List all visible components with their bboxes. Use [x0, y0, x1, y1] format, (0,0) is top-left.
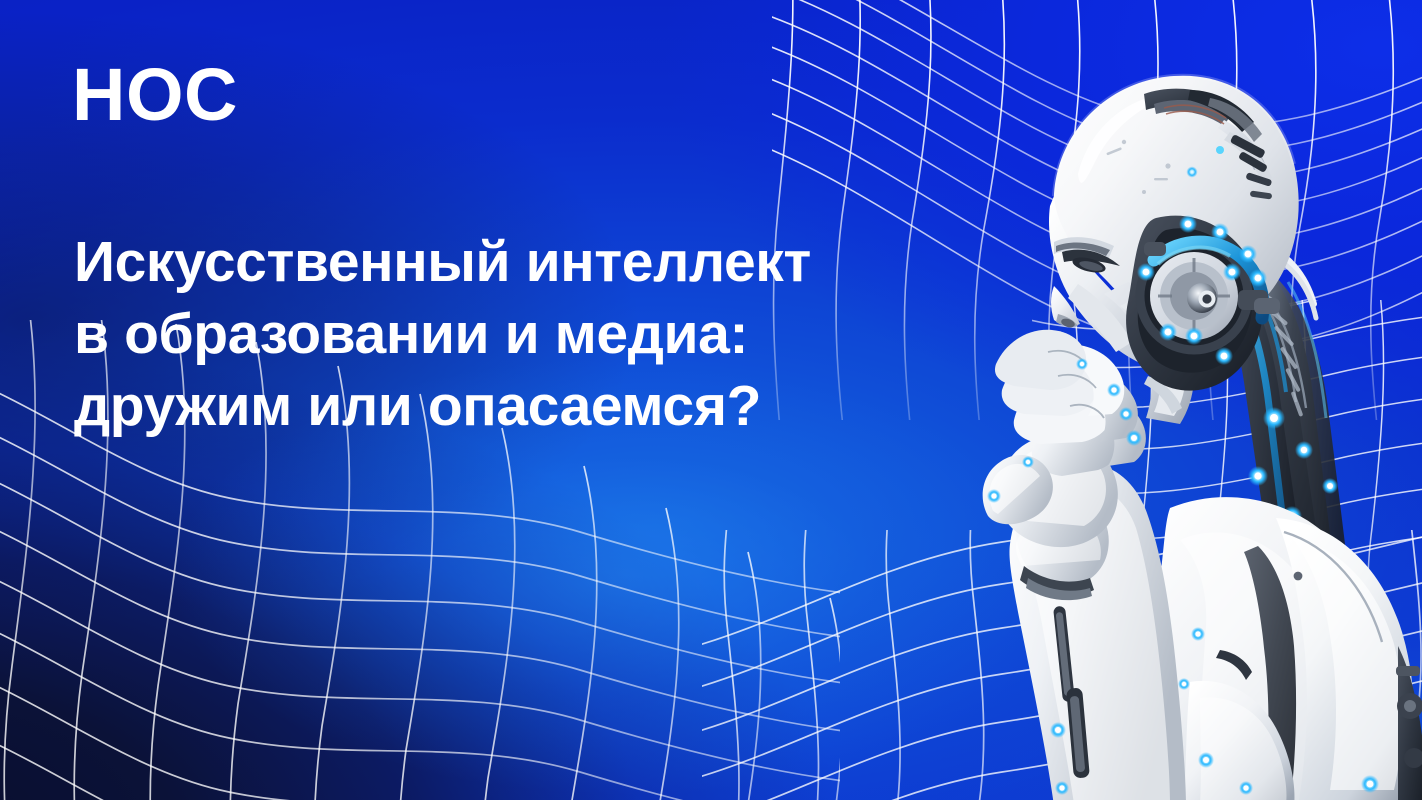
presentation-slide: НОС Искусственный интеллект в образовани… [0, 0, 1422, 800]
page-title: Искусственный интеллект в образовании и … [74, 226, 974, 442]
page-title-line-1: Искусственный интеллект [74, 226, 974, 298]
page-title-line-2: в образовании и медиа: [74, 298, 974, 370]
brand-logo: НОС [72, 58, 238, 132]
page-title-line-3: дружим или опасаемся? [74, 370, 974, 442]
